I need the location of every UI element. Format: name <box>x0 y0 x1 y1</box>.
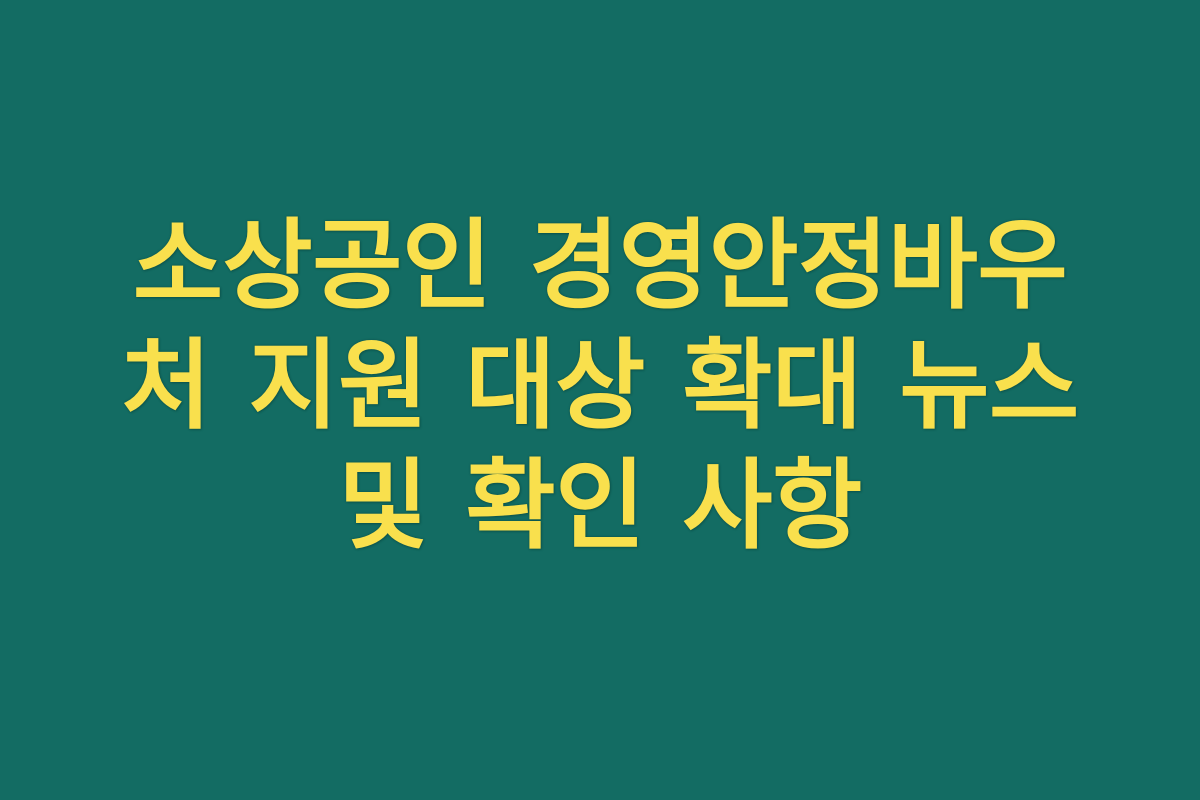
page-title: 소상공인 경영안정바우 처 지원 대상 확대 뉴스 및 확인 사항 <box>95 206 1105 566</box>
headline-block: 소상공인 경영안정바우 처 지원 대상 확대 뉴스 및 확인 사항 <box>95 206 1105 566</box>
headline-line-3: 및 확인 사항 <box>95 446 1105 566</box>
headline-line-1: 소상공인 경영안정바우 <box>95 206 1105 326</box>
headline-line-2: 처 지원 대상 확대 뉴스 <box>95 326 1105 446</box>
poster-canvas: 소상공인 경영안정바우 처 지원 대상 확대 뉴스 및 확인 사항 <box>0 0 1200 800</box>
